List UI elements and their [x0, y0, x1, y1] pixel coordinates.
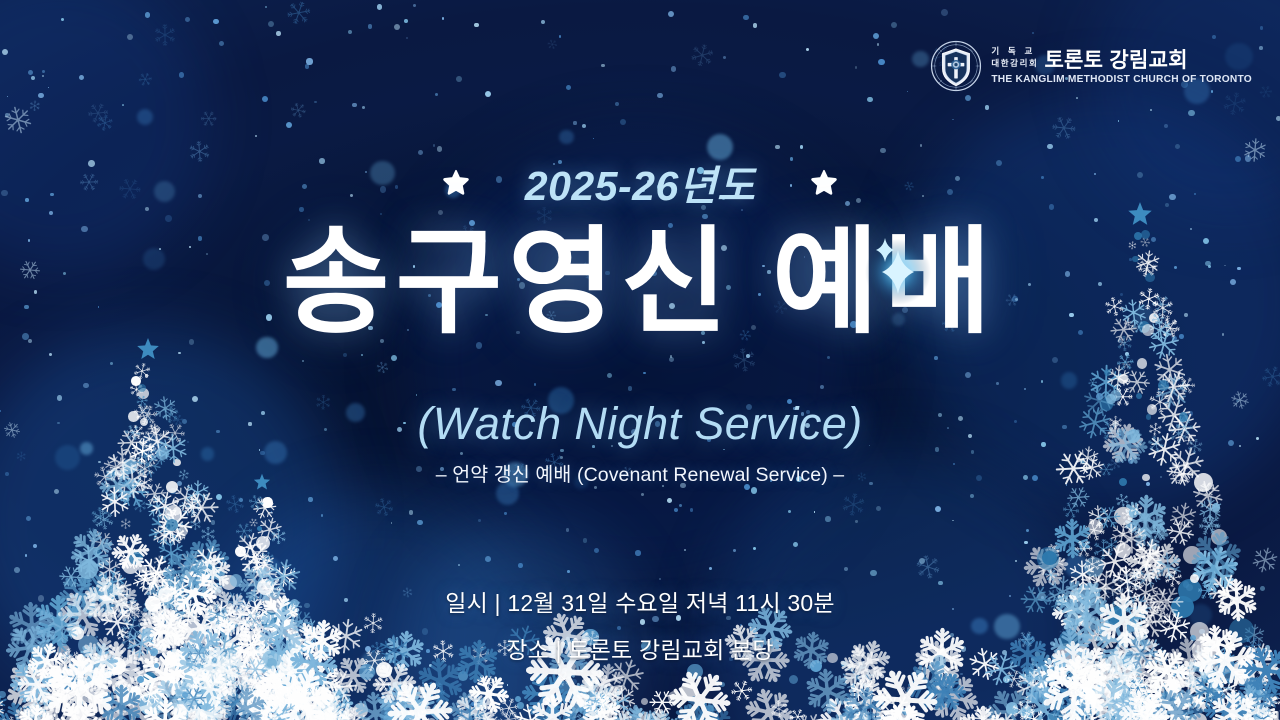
event-datetime: 일시 | 12월 31일 수요일 저녁 11시 30분 — [445, 584, 835, 618]
star-icon — [811, 169, 837, 195]
page-title: 송구영신 예배 — [0, 218, 1280, 348]
event-location: 장소 | 토론토 강림교회 본당 — [506, 631, 774, 665]
poster-canvas: 기 독 교 대한감리회 토론토 강림교회 THE KANGLIM METHODI… — [0, 0, 1280, 720]
subtitle-note: – 언약 갱신 예배 (Covenant Renewal Service) – — [0, 458, 1280, 487]
poster-content: 2025-26년도 송구영신 예배 (Watch Night Service) … — [0, 0, 1280, 720]
event-details: 일시 | 12월 31일 수요일 저녁 11시 30분 장소 | 토론토 강림교… — [0, 584, 1280, 665]
year-row: 2025-26년도 — [0, 152, 1280, 212]
english-title: (Watch Night Service) — [0, 398, 1280, 450]
star-icon — [443, 169, 469, 195]
year-label: 2025-26년도 — [525, 152, 755, 212]
